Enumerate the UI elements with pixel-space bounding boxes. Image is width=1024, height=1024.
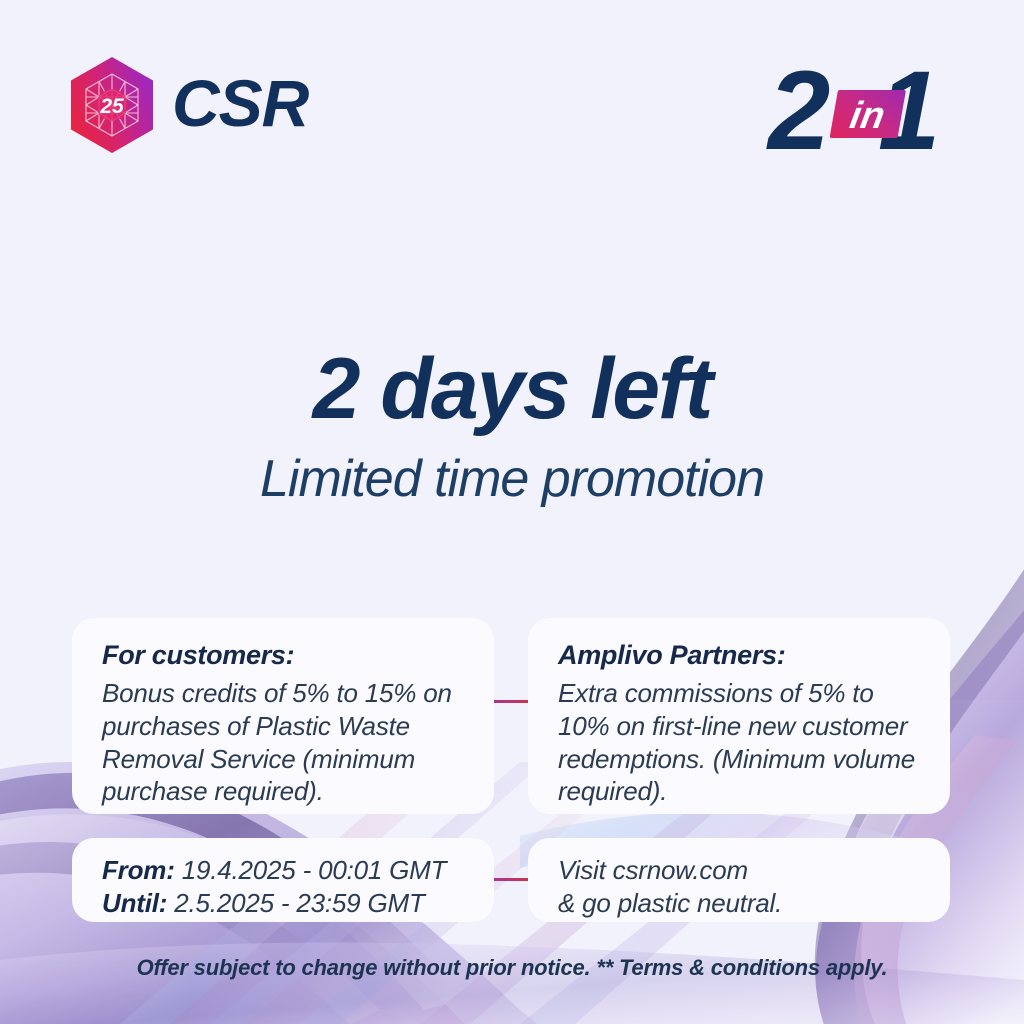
card-connector-top <box>492 700 530 703</box>
offer-card-customers-title: For customers: <box>102 640 468 671</box>
offer-card-partners: Amplivo Partners: Extra commissions of 5… <box>528 618 950 814</box>
two-in-one-logo[interactable]: 2 1 in <box>766 52 946 160</box>
header: 25 CSR 2 1 <box>0 52 1024 162</box>
offer-start-label: From: <box>102 855 175 885</box>
page-title: 2 days left <box>0 346 1024 434</box>
csr-wordmark: CSR <box>172 70 308 136</box>
offer-card-dates: From: 19.4.2025 - 00:01 GMT Until: 2.5.2… <box>72 838 494 922</box>
offer-start-value: 19.4.2025 - 00:01 GMT <box>182 855 447 885</box>
logo-digit-2: 2 <box>766 52 830 160</box>
offer-card-customers-body: Bonus credits of 5% to 15% on purchases … <box>102 677 468 808</box>
hero-subtitle: Limited time promotion <box>0 452 1024 507</box>
offer-start-date: From: 19.4.2025 - 00:01 GMT <box>102 854 468 887</box>
csr-badge-number: 25 <box>99 95 124 118</box>
visit-website-line[interactable]: Visit csrnow.com <box>558 854 924 887</box>
offer-end-label: Until: <box>102 888 167 918</box>
visit-tagline: & go plastic neutral. <box>558 887 924 920</box>
csr-logo[interactable]: 25 CSR <box>68 56 308 154</box>
offer-card-partners-title: Amplivo Partners: <box>558 640 924 671</box>
offer-end-value: 2.5.2025 - 23:59 GMT <box>174 888 424 918</box>
hexagon-lattice-icon: 25 <box>68 56 156 154</box>
offer-card-partners-body: Extra commissions of 5% to 10% on first-… <box>558 677 924 808</box>
hero-section: 2 days left Limited time promotion <box>0 346 1024 506</box>
offer-card-visit[interactable]: Visit csrnow.com & go plastic neutral. <box>528 838 950 922</box>
card-connector-bottom <box>492 878 530 881</box>
disclaimer-text: Offer subject to change without prior no… <box>0 955 1024 981</box>
offer-end-date: Until: 2.5.2025 - 23:59 GMT <box>102 887 468 920</box>
promotion-poster: 25 CSR 2 1 <box>0 0 1024 1024</box>
offer-card-customers: For customers: Bonus credits of 5% to 15… <box>72 618 494 814</box>
